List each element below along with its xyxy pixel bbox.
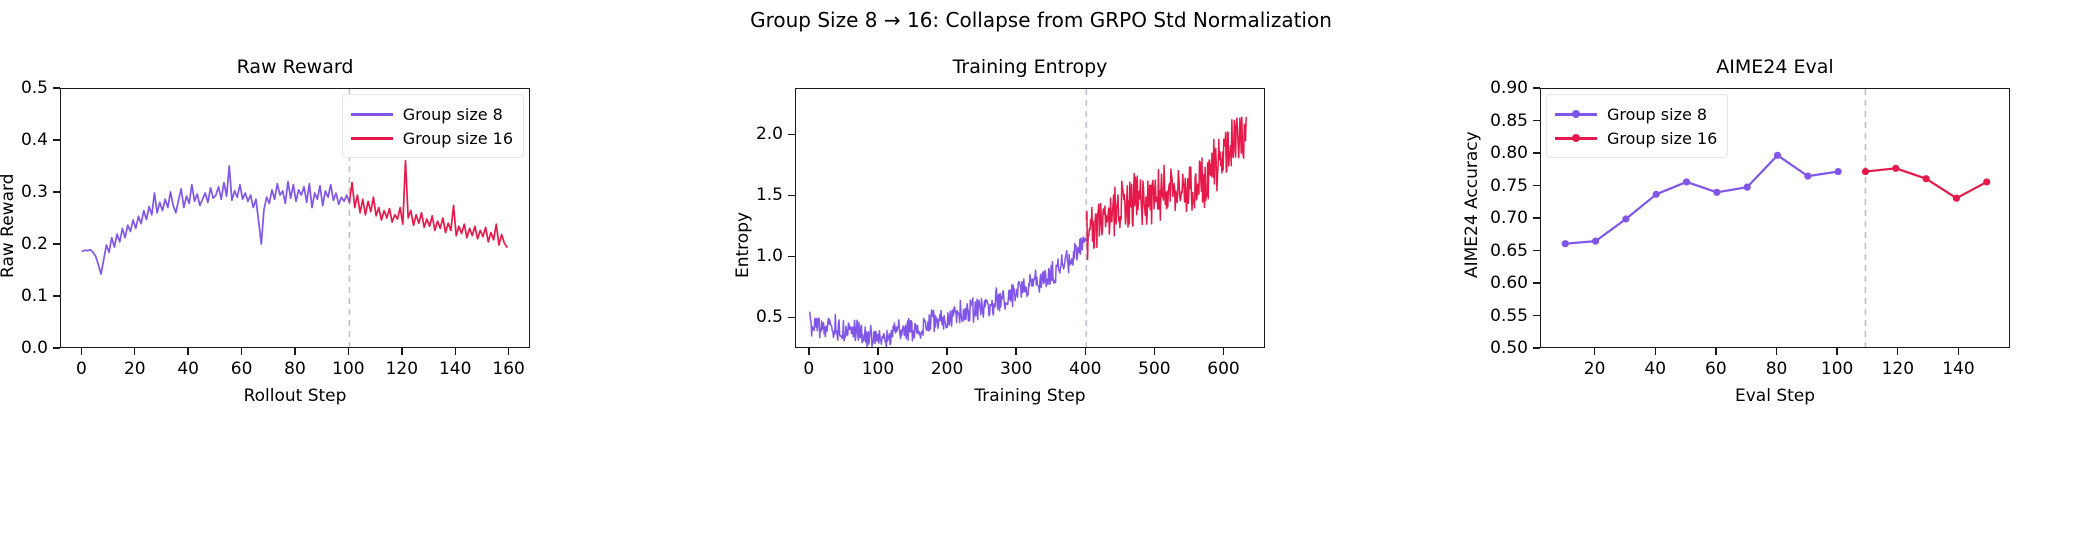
figure-canvas: Group Size 8 → 16: Collapse from GRPO St… xyxy=(0,0,2082,541)
x-tick-label: 120 xyxy=(386,359,418,379)
legend-line-icon-group8 xyxy=(351,107,393,121)
x-tick-mark xyxy=(294,348,295,355)
x-tick-mark xyxy=(946,348,947,355)
y-tick-mark xyxy=(53,87,60,88)
x-tick-label: 20 xyxy=(1584,359,1606,379)
y-tick-label: 0.1 xyxy=(0,286,48,306)
legend-entry-group8[interactable]: Group size 8 xyxy=(351,102,513,126)
subplot-title-aime24-eval: AIME24 Eval xyxy=(1540,56,2010,78)
x-tick-label: 600 xyxy=(1207,359,1239,379)
x-axis-label-aime24-eval: Eval Step xyxy=(1540,386,2010,406)
figure-suptitle: Group Size 8 → 16: Collapse from GRPO St… xyxy=(0,8,2082,32)
y-tick-label: 0.70 xyxy=(1448,208,1528,228)
x-tick-mark xyxy=(1594,348,1595,355)
x-tick-mark xyxy=(348,348,349,355)
y-tick-mark xyxy=(1533,315,1540,316)
x-tick-label: 120 xyxy=(1882,359,1914,379)
x-tick-label: 40 xyxy=(177,359,199,379)
y-tick-mark xyxy=(53,139,60,140)
x-tick-label: 140 xyxy=(1942,359,1974,379)
x-tick-mark xyxy=(1776,348,1777,355)
legend-entry-group8[interactable]: Group size 8 xyxy=(1555,102,1717,126)
subplot-raw-reward: Raw Reward 0.00.10.20.30.40.5 0204060801… xyxy=(60,88,530,348)
y-tick-label: 0.5 xyxy=(0,78,48,98)
legend-label-group8: Group size 8 xyxy=(403,105,503,124)
y-tick-mark xyxy=(1533,217,1540,218)
x-tick-label: 80 xyxy=(284,359,306,379)
y-tick-label: 0.90 xyxy=(1448,78,1528,98)
subplot-aime24-eval: AIME24 Eval 0.500.550.600.650.700.750.80… xyxy=(1540,88,2010,348)
y-tick-mark xyxy=(53,347,60,348)
x-tick-mark xyxy=(508,348,509,355)
x-axis-label-training-entropy: Training Step xyxy=(795,386,1265,406)
y-tick-label: 0.55 xyxy=(1448,306,1528,326)
x-tick-mark xyxy=(1958,348,1959,355)
y-tick-label: 0.5 xyxy=(703,307,783,327)
x-tick-mark xyxy=(877,348,878,355)
x-tick-label: 500 xyxy=(1138,359,1170,379)
x-tick-mark xyxy=(808,348,809,355)
y-axis-label-raw-reward: Raw Reward xyxy=(0,174,18,278)
x-tick-mark xyxy=(1015,348,1016,355)
y-tick-mark xyxy=(1533,282,1540,283)
legend-label-group16: Group size 16 xyxy=(403,129,513,148)
x-tick-label: 400 xyxy=(1069,359,1101,379)
x-tick-mark xyxy=(1897,348,1898,355)
x-tick-label: 200 xyxy=(931,359,963,379)
x-tick-mark xyxy=(1655,348,1656,355)
y-tick-mark xyxy=(53,191,60,192)
y-tick-label: 0.75 xyxy=(1448,176,1528,196)
legend-entry-group16[interactable]: Group size 16 xyxy=(351,126,513,150)
subplot-training-entropy: Training Entropy 0.51.01.52.0 0100200300… xyxy=(795,88,1265,348)
y-tick-label: 0.50 xyxy=(1448,338,1528,358)
x-tick-mark xyxy=(134,348,135,355)
legend-line-icon-group16 xyxy=(351,131,393,145)
y-tick-mark xyxy=(1533,347,1540,348)
x-axis-ticks-training-entropy: 0100200300400500600 xyxy=(795,88,1265,348)
legend-line-marker-icon-group8 xyxy=(1555,107,1597,121)
y-tick-mark xyxy=(53,243,60,244)
x-tick-label: 0 xyxy=(76,359,87,379)
legend-label-group8: Group size 8 xyxy=(1607,105,1707,124)
y-tick-label: 2.0 xyxy=(703,124,783,144)
y-tick-mark xyxy=(1533,185,1540,186)
y-tick-mark xyxy=(53,295,60,296)
y-tick-label: 0.85 xyxy=(1448,111,1528,131)
x-tick-label: 100 xyxy=(332,359,364,379)
x-tick-mark xyxy=(1085,348,1086,355)
legend-label-group16: Group size 16 xyxy=(1607,129,1717,148)
x-tick-mark xyxy=(455,348,456,355)
y-tick-mark xyxy=(788,256,795,257)
y-tick-label: 0.60 xyxy=(1448,273,1528,293)
x-tick-label: 40 xyxy=(1644,359,1666,379)
subplot-title-training-entropy: Training Entropy xyxy=(795,56,1265,78)
x-tick-mark xyxy=(1223,348,1224,355)
y-tick-mark xyxy=(1533,250,1540,251)
y-tick-label: 0.80 xyxy=(1448,143,1528,163)
y-tick-mark xyxy=(1533,120,1540,121)
x-tick-label: 140 xyxy=(439,359,471,379)
x-tick-label: 60 xyxy=(1705,359,1727,379)
y-tick-mark xyxy=(1533,87,1540,88)
y-tick-mark xyxy=(788,134,795,135)
x-tick-label: 20 xyxy=(124,359,146,379)
y-tick-label: 0.0 xyxy=(0,338,48,358)
x-tick-mark xyxy=(81,348,82,355)
x-tick-label: 80 xyxy=(1766,359,1788,379)
legend-raw-reward[interactable]: Group size 8 Group size 16 xyxy=(342,94,524,158)
y-tick-label: 0.4 xyxy=(0,130,48,150)
x-tick-mark xyxy=(1836,348,1837,355)
y-tick-mark xyxy=(788,195,795,196)
x-tick-label: 160 xyxy=(492,359,524,379)
x-tick-label: 60 xyxy=(231,359,253,379)
y-tick-label: 1.5 xyxy=(703,185,783,205)
x-tick-mark xyxy=(187,348,188,355)
x-tick-label: 100 xyxy=(862,359,894,379)
subplot-title-raw-reward: Raw Reward xyxy=(60,56,530,78)
legend-aime24-eval[interactable]: Group size 8 Group size 16 xyxy=(1546,94,1728,158)
x-axis-label-raw-reward: Rollout Step xyxy=(60,386,530,406)
x-tick-mark xyxy=(1715,348,1716,355)
y-tick-mark xyxy=(788,317,795,318)
x-tick-mark xyxy=(1154,348,1155,355)
x-tick-label: 300 xyxy=(1000,359,1032,379)
x-tick-mark xyxy=(241,348,242,355)
x-tick-mark xyxy=(401,348,402,355)
y-axis-label-aime24-eval: AIME24 Accuracy xyxy=(1462,131,1482,278)
y-tick-label: 0.65 xyxy=(1448,241,1528,261)
x-tick-label: 100 xyxy=(1821,359,1853,379)
y-tick-mark xyxy=(1533,152,1540,153)
legend-entry-group16[interactable]: Group size 16 xyxy=(1555,126,1717,150)
y-axis-label-training-entropy: Entropy xyxy=(733,212,753,278)
legend-line-marker-icon-group16 xyxy=(1555,131,1597,145)
x-tick-label: 0 xyxy=(803,359,814,379)
